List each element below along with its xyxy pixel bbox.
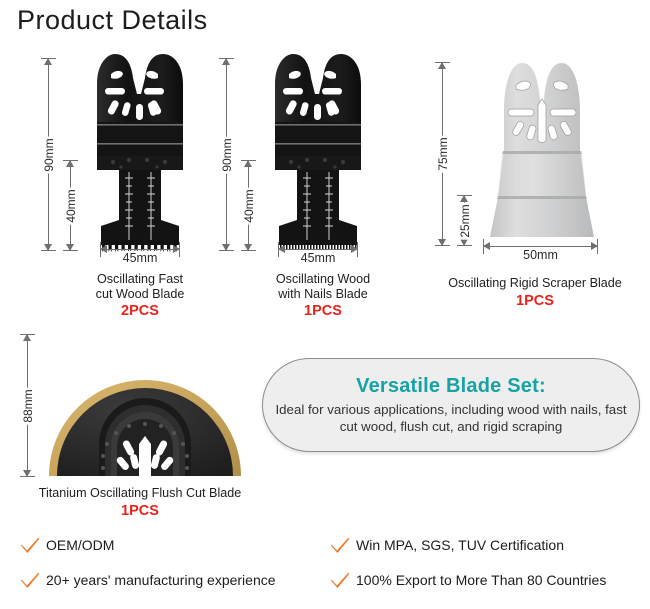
callout-heading: Versatile Blade Set: — [356, 375, 546, 398]
product-name-line2: cut Wood Blade — [96, 287, 185, 301]
product-details-page: Product Details — [0, 0, 650, 609]
dimension-label: 45mm — [298, 251, 339, 265]
feature-item-oem-odm: OEM/ODM — [20, 536, 114, 554]
page-title: Product Details — [17, 5, 208, 36]
dimension-width-blade-3: 50mm — [483, 240, 598, 253]
blade-image-titanium-flush-cut — [43, 332, 248, 478]
blade-image-fast-cut-wood — [85, 50, 197, 252]
product-quantity: 2PCS — [60, 302, 220, 320]
dimension-edge-blade-3: 25mm — [459, 195, 470, 246]
dimension-label: 25mm — [457, 202, 473, 239]
dimension-label: 40mm — [63, 187, 79, 224]
dimension-width-blade-1: 45mm — [100, 243, 180, 256]
caption-rigid-scraper-blade: Oscillating Rigid Scraper Blade 1PCS — [420, 276, 650, 310]
product-name-line1: Titanium Oscillating Flush Cut Blade — [39, 486, 242, 500]
feature-item-certification: Win MPA, SGS, TUV Certification — [330, 536, 564, 554]
dimension-height-blade-2: 90mm — [221, 58, 232, 251]
feature-label: Win MPA, SGS, TUV Certification — [356, 537, 564, 553]
blade-image-rigid-scraper — [482, 55, 602, 245]
check-icon — [20, 571, 40, 589]
feature-item-experience: 20+ years' manufacturing experience — [20, 571, 276, 589]
product-name-line1: Oscillating Rigid Scraper Blade — [448, 276, 622, 290]
blade-image-wood-with-nails — [263, 50, 375, 252]
feature-label: 20+ years' manufacturing experience — [46, 572, 276, 588]
dimension-height-blade-1: 90mm — [43, 58, 54, 251]
check-icon — [330, 571, 350, 589]
dimension-label: 90mm — [41, 136, 57, 173]
product-quantity: 1PCS — [238, 302, 408, 320]
dimension-cutdepth-blade-2: 40mm — [243, 160, 254, 251]
feature-list: OEM/ODM 20+ years' manufacturing experie… — [0, 528, 650, 609]
dimension-width-blade-2: 45mm — [278, 243, 358, 256]
product-name-line2: with Nails Blade — [278, 287, 368, 301]
dimension-height-blade-3: 75mm — [437, 62, 448, 246]
dimension-diameter-blade-4: 88mm — [22, 334, 33, 477]
feature-label: OEM/ODM — [46, 537, 114, 553]
caption-fast-cut-wood-blade: Oscillating Fast cut Wood Blade 2PCS — [60, 272, 220, 320]
check-icon — [20, 536, 40, 554]
versatile-blade-set-callout: Versatile Blade Set: Ideal for various a… — [262, 358, 640, 452]
product-quantity: 1PCS — [420, 292, 650, 310]
feature-label: 100% Export to More Than 80 Countries — [356, 572, 606, 588]
dimension-label: 75mm — [435, 135, 451, 172]
product-name-line1: Oscillating Fast — [97, 272, 183, 286]
product-quantity: 1PCS — [10, 502, 270, 520]
product-name-line1: Oscillating Wood — [276, 272, 370, 286]
caption-wood-with-nails-blade: Oscillating Wood with Nails Blade 1PCS — [238, 272, 408, 320]
dimension-cutdepth-blade-1: 40mm — [65, 160, 76, 251]
caption-titanium-flush-cut-blade: Titanium Oscillating Flush Cut Blade 1PC… — [10, 486, 270, 520]
dimension-label: 50mm — [520, 248, 561, 262]
dimension-label: 45mm — [120, 251, 161, 265]
dimension-label: 90mm — [219, 136, 235, 173]
feature-item-export: 100% Export to More Than 80 Countries — [330, 571, 606, 589]
dimension-label: 88mm — [20, 387, 36, 424]
dimension-label: 40mm — [241, 187, 257, 224]
callout-body: Ideal for various applications, includin… — [271, 402, 631, 435]
check-icon — [330, 536, 350, 554]
